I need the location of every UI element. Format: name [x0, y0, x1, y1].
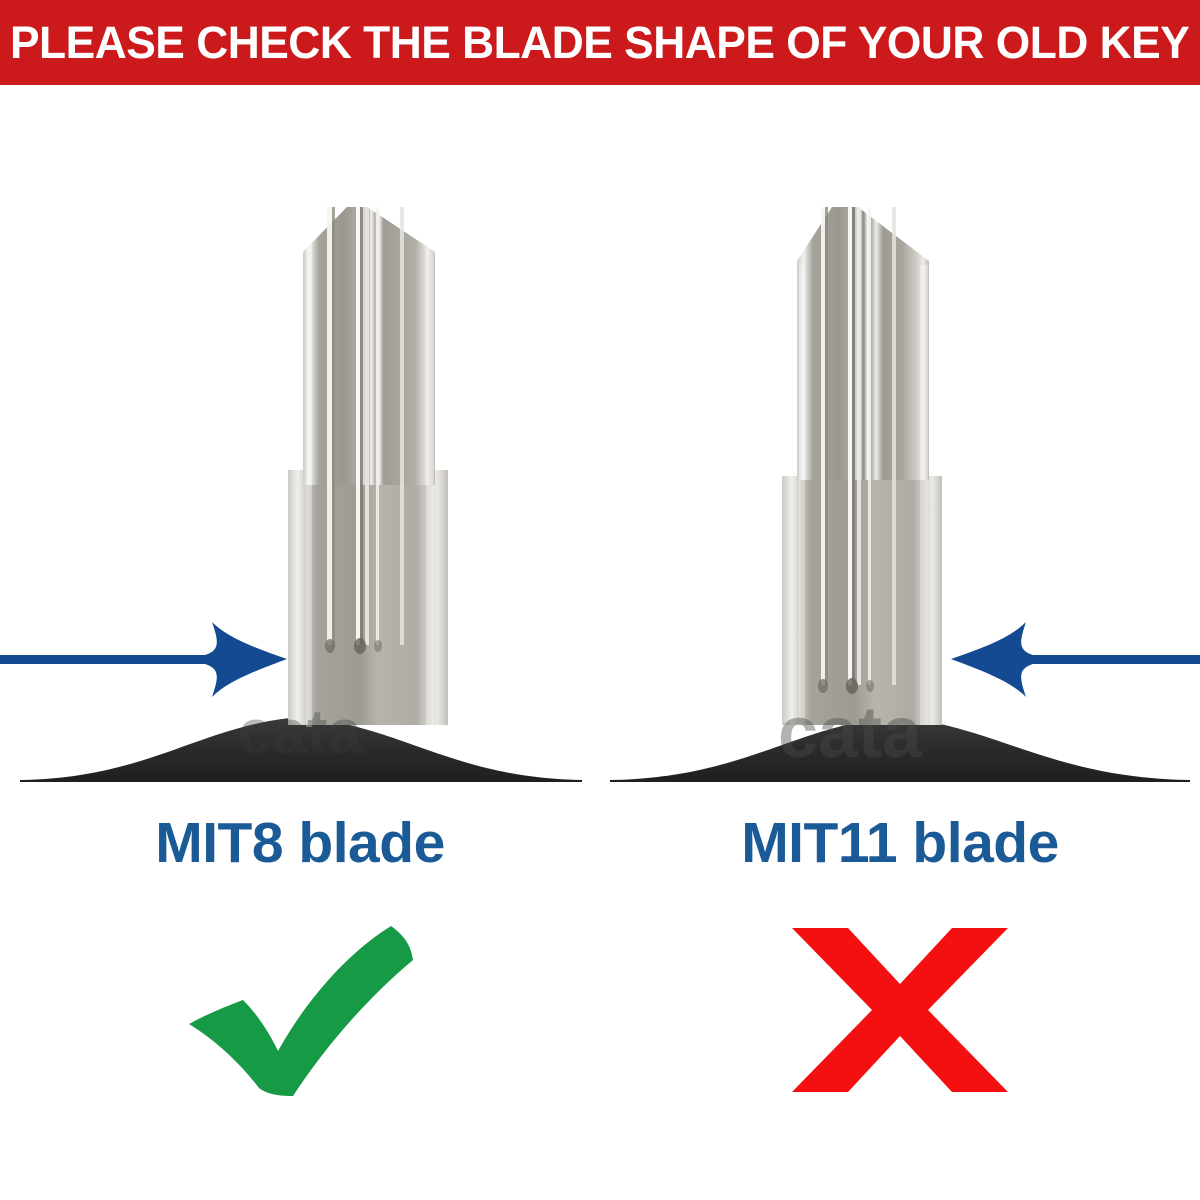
verdict-mit11 — [600, 915, 1200, 1105]
banner-title: PLEASE CHECK THE BLADE SHAPE OF YOUR OLD… — [10, 20, 1189, 65]
blade-label-mit8: MIT8 blade — [0, 815, 600, 872]
key-shoulder — [782, 468, 942, 725]
blade-label-mit11: MIT11 blade — [600, 815, 1200, 872]
page-root: PLEASE CHECK THE BLADE SHAPE OF YOUR OLD… — [0, 0, 1200, 1200]
watermark-text: cata — [778, 693, 923, 773]
key-image-mit11: cata — [600, 85, 1200, 795]
check-icon — [165, 920, 435, 1100]
cross-icon — [775, 920, 1025, 1100]
watermark-text: cata — [238, 698, 363, 767]
key-blade-body — [797, 207, 929, 480]
verdict-mit8 — [0, 915, 600, 1105]
header-banner: PLEASE CHECK THE BLADE SHAPE OF YOUR OLD… — [0, 0, 1200, 85]
key-image-mit8: cata — [0, 85, 600, 795]
key-blade-mit8-illustration: cata — [0, 85, 600, 795]
key-blade-mit11-illustration: cata — [600, 85, 1200, 795]
